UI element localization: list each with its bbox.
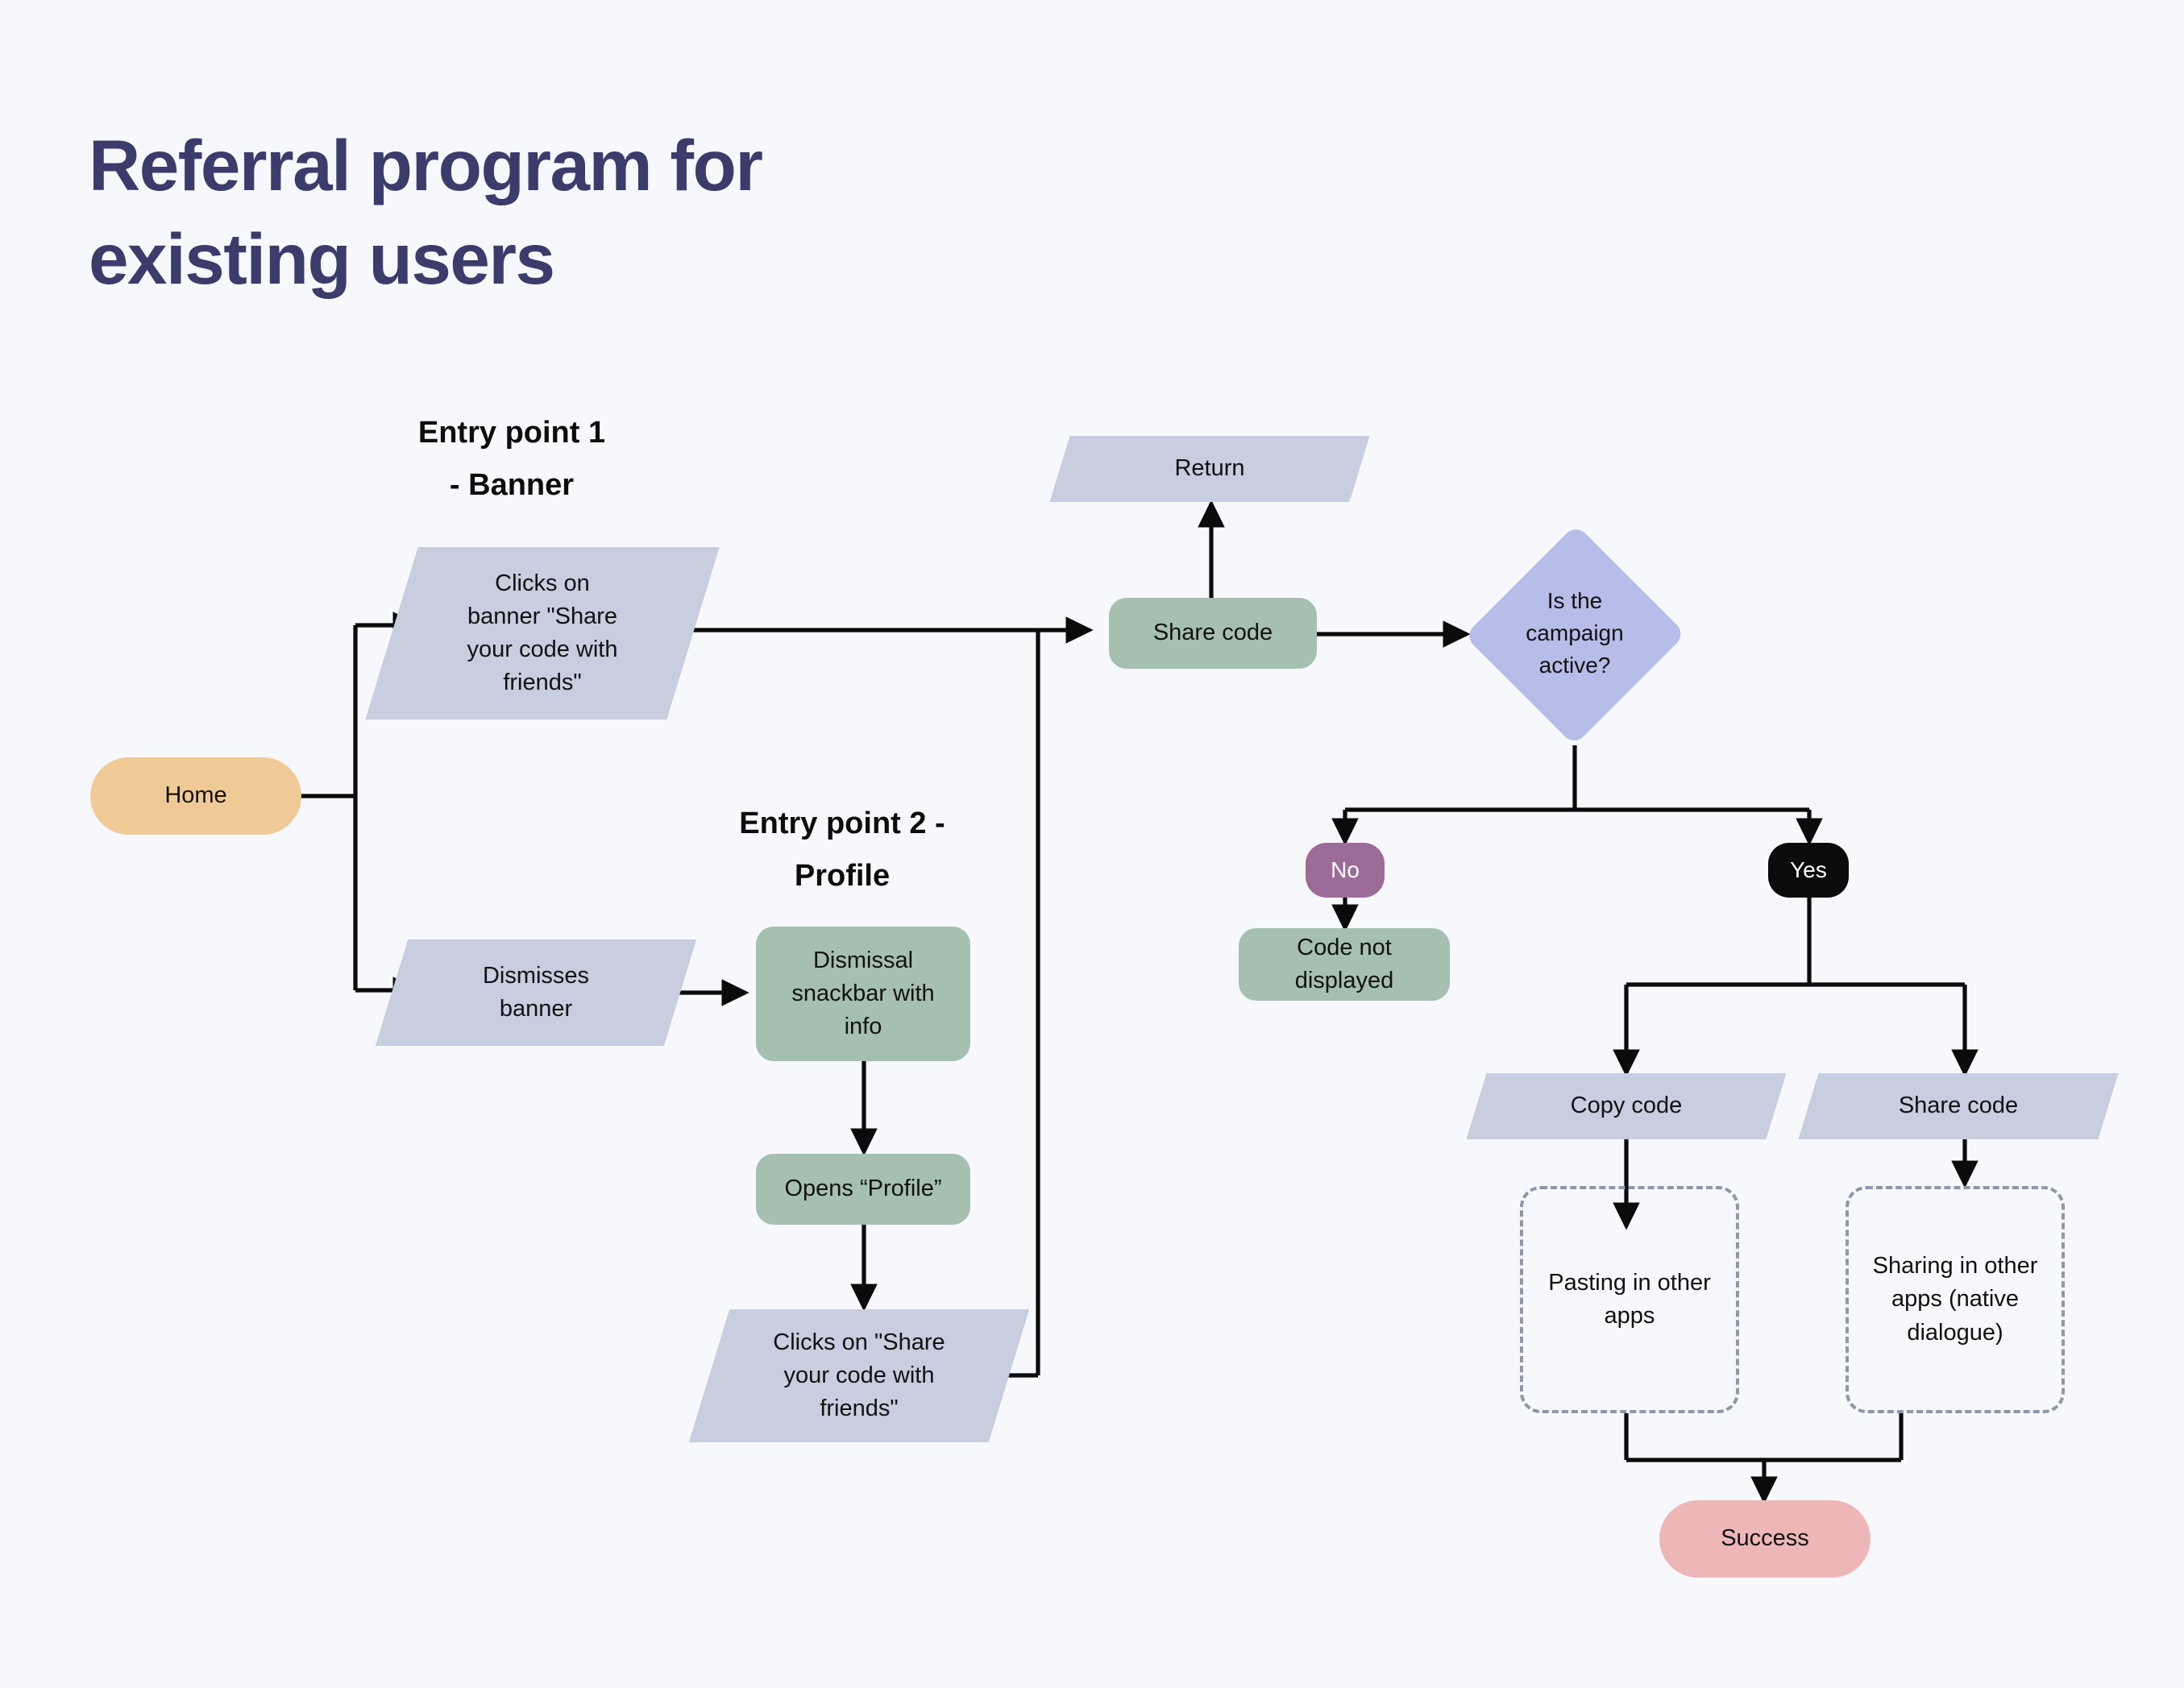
node-success-label: Success xyxy=(1713,1522,1817,1555)
node-share-code-main[interactable]: Share code xyxy=(1109,598,1317,669)
node-copy-code[interactable]: Copy code xyxy=(1476,1073,1776,1139)
section-heading-entry-point-1-line-1: Entry point 1 xyxy=(375,407,649,459)
node-clicks-share-profile-label: Clicks on "Share your code with friends" xyxy=(765,1326,953,1426)
node-dismisses-banner[interactable]: Dismisses banner xyxy=(392,939,680,1046)
node-badge-no[interactable]: No xyxy=(1306,843,1385,898)
node-success[interactable]: Success xyxy=(1659,1500,1871,1578)
node-home-label: Home xyxy=(156,779,235,812)
node-copy-code-label: Copy code xyxy=(1563,1089,1691,1122)
page-title-line-2: existing users xyxy=(89,213,1056,306)
node-badge-yes-label: Yes xyxy=(1782,854,1835,886)
node-clicks-share-profile[interactable]: Clicks on "Share your code with friends" xyxy=(709,1309,1009,1442)
group-sharing-in-other-apps-label: Sharing in other apps (native dialogue) xyxy=(1858,1250,2053,1350)
node-share-code-branch[interactable]: Share code xyxy=(1808,1073,2108,1139)
section-heading-entry-point-1: Entry point 1 - Banner xyxy=(375,407,649,511)
node-badge-no-label: No xyxy=(1322,854,1368,886)
section-heading-entry-point-1-line-2: - Banner xyxy=(375,459,649,512)
node-return[interactable]: Return xyxy=(1060,436,1360,502)
node-opens-profile[interactable]: Opens “Profile” xyxy=(756,1154,970,1225)
node-share-code-main-label: Share code xyxy=(1145,616,1281,649)
node-home[interactable]: Home xyxy=(90,757,301,835)
section-heading-entry-point-2-line-2: Profile xyxy=(689,850,995,902)
node-dismisses-banner-label: Dismisses banner xyxy=(475,960,597,1026)
node-opens-profile-label: Opens “Profile” xyxy=(776,1172,949,1205)
group-pasting-in-other-apps[interactable]: Pasting in other apps xyxy=(1520,1186,1739,1413)
section-heading-entry-point-2: Entry point 2 - Profile xyxy=(689,798,995,902)
node-return-label: Return xyxy=(1166,452,1252,485)
node-badge-yes[interactable]: Yes xyxy=(1768,843,1849,898)
node-code-not-displayed[interactable]: Code not displayed xyxy=(1239,928,1450,1001)
page-title: Referral program for existing users xyxy=(89,119,1056,305)
node-clicks-on-banner-label: Clicks on banner "Share your code with f… xyxy=(459,567,626,700)
node-dismissal-snackbar-label: Dismissal snackbar with info xyxy=(783,944,942,1044)
node-dismissal-snackbar[interactable]: Dismissal snackbar with info xyxy=(756,927,970,1061)
node-clicks-on-banner[interactable]: Clicks on banner "Share your code with f… xyxy=(392,547,693,720)
group-pasting-in-other-apps-label: Pasting in other apps xyxy=(1534,1267,1725,1333)
node-campaign-active-decision[interactable]: Is the campaign active? xyxy=(1467,524,1683,743)
page-title-line-1: Referral program for xyxy=(89,119,1056,213)
node-campaign-active-label: Is the campaign active? xyxy=(1518,585,1631,681)
node-code-not-displayed-label: Code not displayed xyxy=(1287,931,1402,997)
section-heading-entry-point-2-line-1: Entry point 2 - xyxy=(689,798,995,850)
flowchart-canvas: Referral program for existing users Entr… xyxy=(0,0,2184,1688)
group-sharing-in-other-apps[interactable]: Sharing in other apps (native dialogue) xyxy=(1846,1186,2065,1413)
node-share-code-branch-label: Share code xyxy=(1891,1089,2026,1122)
